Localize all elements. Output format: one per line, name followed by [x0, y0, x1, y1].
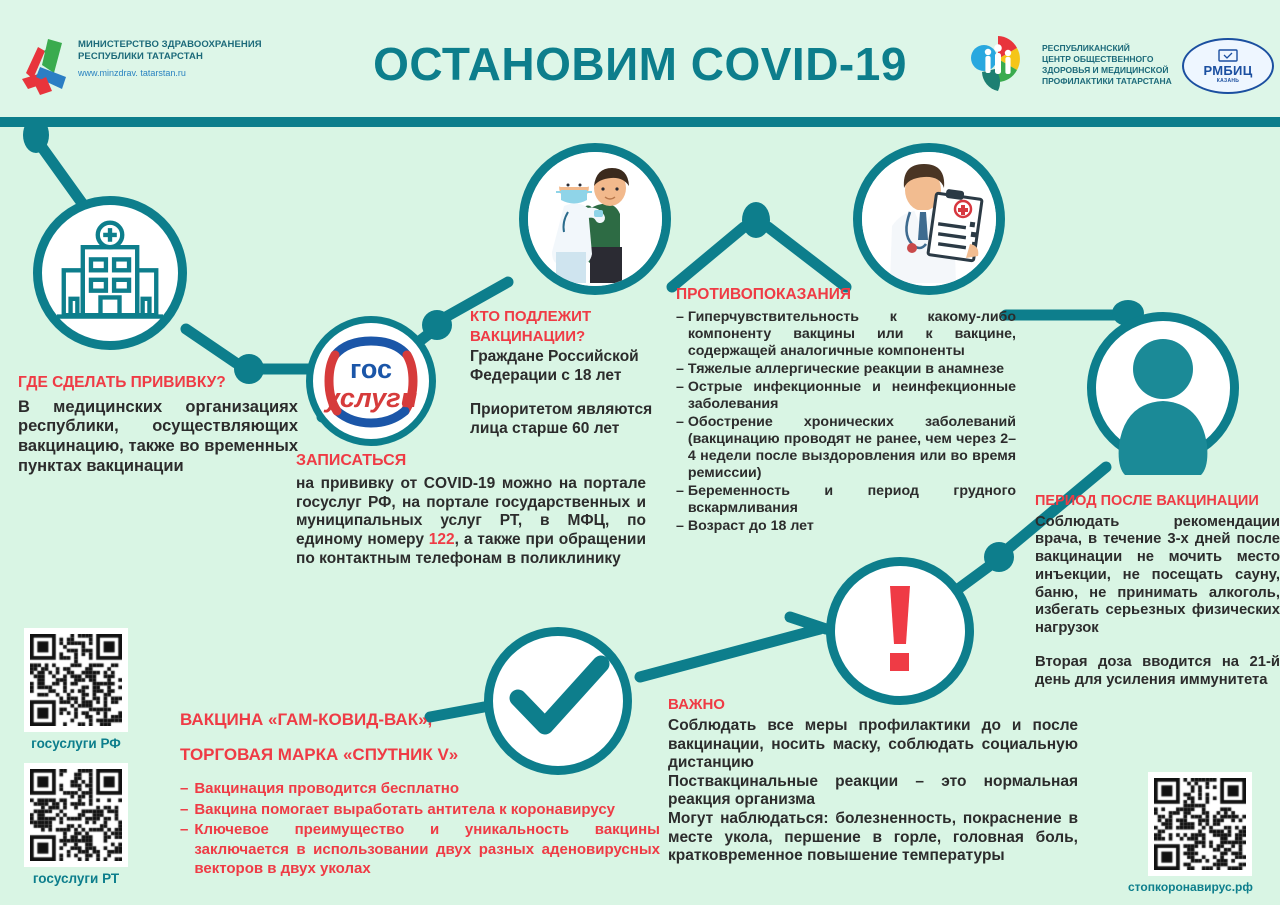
gosuslugi-text-gos: гос [350, 354, 392, 384]
important-body-1: Соблюдать все меры профилактики до и пос… [668, 717, 1078, 773]
list-item: –Вакцина помогает выработать антитела к … [180, 800, 660, 820]
connector-wedding-to-dot3 [672, 227, 744, 287]
list-text: Возраст до 18 лет [688, 518, 1016, 535]
gosuslugi-logo-icon: гос услуги [313, 323, 429, 439]
qr-gosuslugi-rt[interactable]: госуслуги РТ [24, 763, 128, 886]
vaccine-heading-line1: ВАКЦИНА «ГАМ-КОВИД-ВАК», [180, 710, 660, 731]
connector-hospital-to-dot1 [186, 329, 236, 363]
who-heading-line1: КТО ПОДЛЕЖИТ [470, 308, 680, 325]
gosuslugi-text-uslugi: услуги [323, 383, 418, 413]
after-vaccination-spacer [1035, 638, 1280, 654]
list-text: Беременность и период грудного вскармлив… [688, 483, 1016, 517]
minzdrav-line1: МИНИСТЕРСТВО ЗДРАВООХРАНЕНИЯ [78, 39, 278, 51]
list-item: –Возраст до 18 лет [676, 518, 1016, 535]
rcoz-emblem-icon [962, 28, 1034, 100]
list-item: –Тяжелые аллергические реакции в анамнез… [676, 361, 1016, 378]
path-node-dot-start [23, 117, 49, 153]
rmbic-word: РМБИЦ [1203, 63, 1252, 78]
rcoz-line4: ПРОФИЛАКТИКИ ТАТАРСТАНА [1042, 76, 1192, 87]
minzdrav-emblem-icon [18, 33, 73, 95]
infographic-poster: МИНИСТЕРСТВО ЗДРАВООХРАНЕНИЯ РЕСПУБЛИКИ … [0, 0, 1280, 905]
list-text: Тяжелые аллергические реакции в анамнезе [688, 361, 1016, 378]
rcoz-line3: ЗДОРОВЬЯ И МЕДИЦИНСКОЙ [1042, 65, 1192, 76]
hospital-icon [42, 205, 178, 341]
rmbic-seal: РМБИЦ КАЗАНЬ [1182, 38, 1274, 94]
minzdrav-wordmark: МИНИСТЕРСТВО ЗДРАВООХРАНЕНИЯ РЕСПУБЛИКИ … [78, 39, 278, 78]
signup-block: ЗАПИСАТЬСЯ на прививку от COVID-19 можно… [296, 452, 646, 568]
minzdrav-url: www.minzdrav. tatarstan.ru [78, 68, 278, 78]
node-person-circle [1087, 312, 1239, 464]
list-dash: – [676, 414, 684, 482]
rcoz-wordmark: РЕСПУБЛИКАНСКИЙ ЦЕНТР ОБЩЕСТВЕННОГО ЗДОР… [1042, 43, 1192, 87]
node-hospital-circle [33, 196, 187, 350]
qr-label: госуслуги РФ [24, 736, 128, 751]
node-doctor-circle [853, 143, 1005, 295]
node-gosuslugi-logo-circle: гос услуги [306, 316, 436, 446]
poster-header: МИНИСТЕРСТВО ЗДРАВООХРАНЕНИЯ РЕСПУБЛИКИ … [0, 0, 1280, 117]
qr-code-image [1148, 772, 1252, 876]
where-body: В медицинских организациях республики, о… [18, 398, 298, 477]
list-item: –Обострение хронических заболеваний (вак… [676, 414, 1016, 482]
qr-label: стопкоронавирус.рф [1128, 880, 1252, 894]
list-dash: – [180, 779, 188, 799]
doctor-vaccinating-patient-icon [528, 152, 662, 286]
who-is-eligible-block: КТО ПОДЛЕЖИТ ВАКЦИНАЦИИ? Граждане Россий… [470, 308, 680, 439]
list-item: –Беременность и период грудного вскармли… [676, 483, 1016, 517]
rcoz-line2: ЦЕНТР ОБЩЕСТВЕННОГО [1042, 54, 1192, 65]
computer-icon [1218, 49, 1238, 63]
rmbic-logo: РМБИЦ КАЗАНЬ [1182, 38, 1270, 90]
person-silhouette-icon [1096, 321, 1230, 455]
list-dash: – [676, 361, 684, 378]
who-body: Граждане Российской Федерации с 18 лет [470, 348, 680, 385]
rcoz-line1: РЕСПУБЛИКАНСКИЙ [1042, 43, 1192, 54]
list-text: Вакцинация проводится бесплатно [194, 779, 660, 799]
qr-canvas [30, 769, 122, 861]
list-text: Вакцина помогает выработать антитела к к… [194, 800, 660, 820]
qr-code-image [24, 628, 128, 732]
after-vaccination-body: Соблюдать рекомендации врача, в течение … [1035, 514, 1280, 638]
list-item: –Гиперчувствительность к какому-либо ком… [676, 309, 1016, 360]
list-dash: – [676, 518, 684, 535]
where-to-vaccinate-block: ГДЕ СДЕЛАТЬ ПРИВИВКУ? В медицинских орга… [18, 374, 298, 477]
important-body-2: Поствакцинальные реакции – это нормальна… [668, 773, 1078, 810]
list-text: Ключевое преимущество и уникальность вак… [194, 820, 660, 879]
vaccine-info-block: ВАКЦИНА «ГАМ-КОВИД-ВАК», ТОРГОВАЯ МАРКА … [180, 710, 660, 880]
minzdrav-line2: РЕСПУБЛИКИ ТАТАРСТАН [78, 51, 278, 63]
list-dash: – [676, 309, 684, 360]
qr-gosuslugi-rf[interactable]: госуслуги РФ [24, 628, 128, 751]
list-dash: – [180, 820, 188, 879]
doctor-with-clipboard-icon [862, 152, 996, 286]
connector-dot3-to-doctor [768, 227, 846, 287]
exclamation-icon [835, 566, 965, 696]
list-dash: – [180, 800, 188, 820]
connector-exclaim-to-check [640, 629, 820, 677]
who-priority: Приоритетом являются лица старше 60 лет [470, 401, 680, 438]
list-item: –Вакцинация проводится бесплатно [180, 779, 660, 799]
list-item: –Ключевое преимущество и уникальность ва… [180, 820, 660, 879]
signup-body: на прививку от COVID-19 можно на портале… [296, 475, 646, 568]
path-node-dot-3 [742, 202, 770, 238]
minzdrav-logo: МИНИСТЕРСТВО ЗДРАВООХРАНЕНИЯ РЕСПУБЛИКИ … [18, 33, 273, 95]
after-vaccination-block: ПЕРИОД ПОСЛЕ ВАКЦИНАЦИИ Соблюдать рекоме… [1035, 493, 1280, 689]
list-dash: – [676, 379, 684, 413]
node-vaccination-photo-circle [519, 143, 671, 295]
node-exclamation-circle [826, 557, 974, 705]
important-block: ВАЖНО Соблюдать все меры профилактики до… [668, 696, 1078, 866]
path-node-dot-4 [984, 542, 1014, 572]
who-heading-line2: ВАКЦИНАЦИИ? [470, 328, 680, 345]
contraindications-heading: ПРОТИВОПОКАЗАНИЯ [676, 286, 1016, 304]
contraindications-block: ПРОТИВОПОКАЗАНИЯ –Гиперчувствительность … [676, 286, 1016, 536]
important-body-3: Могут наблюдаться: болезненность, покрас… [668, 810, 1078, 866]
important-heading: ВАЖНО [668, 696, 1078, 713]
after-vaccination-second-dose: Вторая доза вводится на 21-й день для ус… [1035, 654, 1280, 690]
after-vaccination-heading: ПЕРИОД ПОСЛЕ ВАКЦИНАЦИИ [1035, 493, 1280, 510]
contraindications-list: –Гиперчувствительность к какому-либо ком… [676, 309, 1016, 535]
list-text: Обострение хронических заболеваний (вакц… [688, 414, 1016, 482]
rmbic-sub: КАЗАНЬ [1217, 78, 1239, 84]
qr-label: госуслуги РТ [24, 871, 128, 886]
signup-phone-number: 122 [429, 531, 455, 548]
qr-code-image [24, 763, 128, 867]
qr-canvas [1154, 778, 1246, 870]
list-text: Острые инфекционные и неинфекционные заб… [688, 379, 1016, 413]
list-text: Гиперчувствительность к какому-либо комп… [688, 309, 1016, 360]
qr-stopkoronavirus[interactable]: стопкоронавирус.рф [1148, 772, 1252, 894]
list-dash: – [676, 483, 684, 517]
list-item: –Острые инфекционные и неинфекционные за… [676, 379, 1016, 413]
signup-heading: ЗАПИСАТЬСЯ [296, 452, 646, 470]
vaccine-heading-line2: ТОРГОВАЯ МАРКА «СПУТНИК V» [180, 745, 660, 766]
qr-canvas [30, 634, 122, 726]
who-spacer [470, 385, 680, 401]
where-heading: ГДЕ СДЕЛАТЬ ПРИВИВКУ? [18, 374, 298, 392]
page-title: ОСТАНОВИМ COVID-19 [340, 33, 940, 95]
